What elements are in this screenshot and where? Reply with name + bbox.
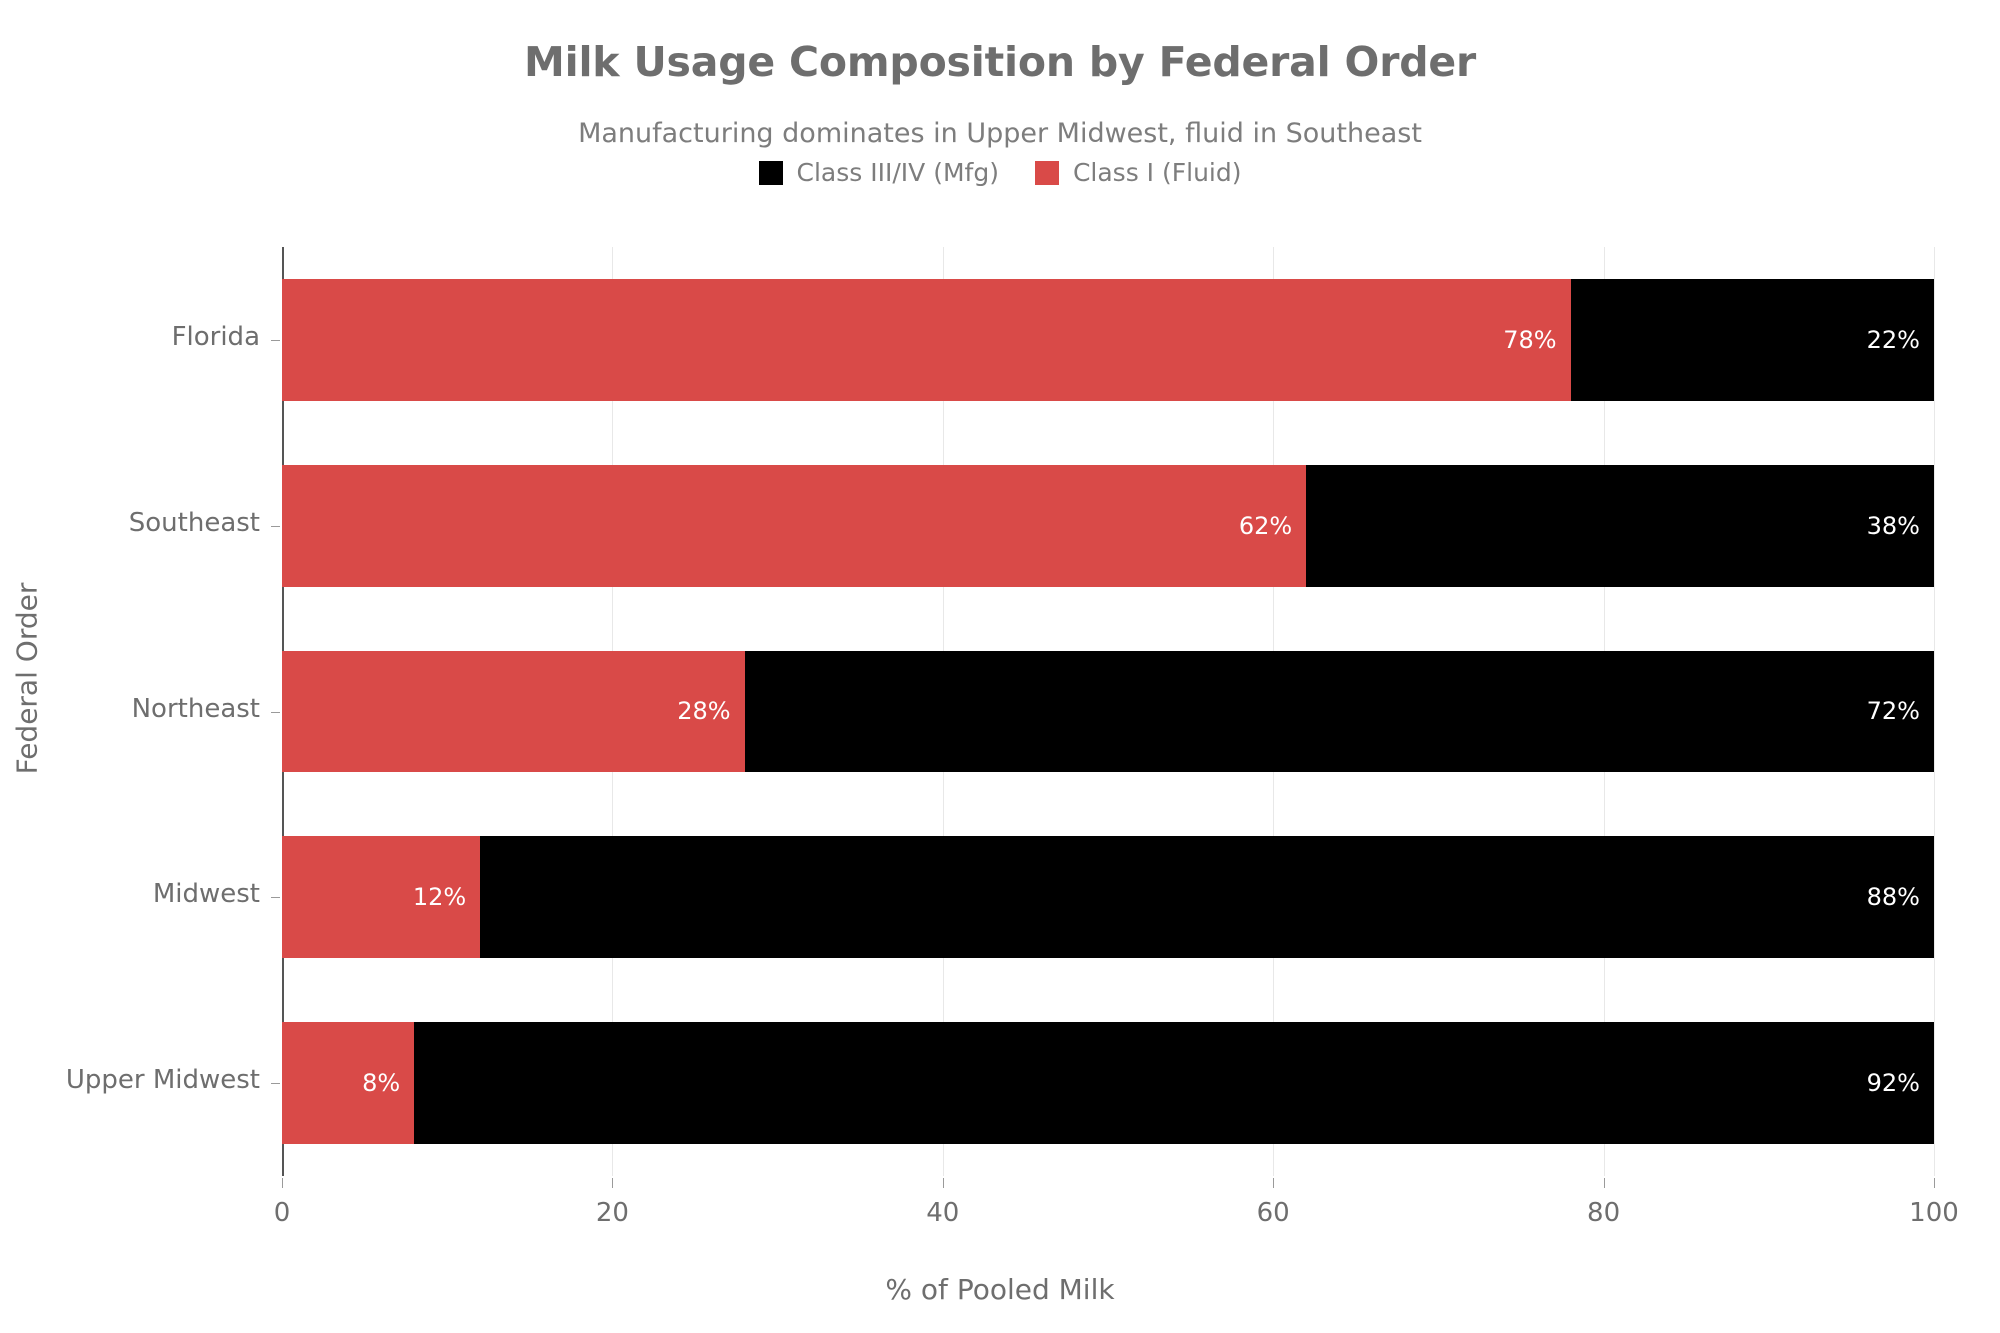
x-tick-mark	[1934, 1178, 1935, 1188]
bar-value-label: 28%	[677, 697, 744, 725]
chart-legend: Class III/IV (Mfg) Class I (Fluid)	[0, 158, 2000, 187]
y-tick-label-northeast: Northeast	[132, 694, 260, 724]
x-tick-mark	[1604, 1178, 1605, 1188]
bar-segment-manufacturing[interactable]: 92%	[414, 1022, 1934, 1144]
legend-item-class-i[interactable]: Class I (Fluid)	[1035, 158, 1242, 187]
legend-swatch-red-icon	[1035, 161, 1059, 185]
x-tick-label-0: 0	[274, 1198, 291, 1228]
y-tick-mark	[271, 712, 280, 713]
bar-value-label: 12%	[413, 883, 480, 911]
bar-segment-fluid[interactable]: 62%	[282, 465, 1306, 587]
bar-value-label: 22%	[1867, 326, 1934, 354]
bar-segment-manufacturing[interactable]: 88%	[480, 836, 1934, 958]
bar-segment-fluid[interactable]: 78%	[282, 279, 1571, 401]
y-tick-mark	[271, 526, 280, 527]
bar-row[interactable]: 12%88%	[282, 836, 1934, 958]
y-axis-title: Federal Order	[11, 489, 44, 869]
bar-segment-fluid[interactable]: 8%	[282, 1022, 414, 1144]
bar-value-label: 8%	[362, 1069, 414, 1097]
bar-value-label: 92%	[1867, 1069, 1934, 1097]
x-tick-label-80: 80	[1587, 1198, 1620, 1228]
x-tick-mark	[282, 1178, 283, 1188]
plot-area: 78%22%62%38%28%72%12%88%8%92%	[282, 247, 1934, 1176]
bar-segment-manufacturing[interactable]: 72%	[745, 651, 1934, 773]
y-tick-label-florida: Florida	[172, 322, 260, 352]
y-tick-label-midwest: Midwest	[153, 879, 260, 909]
x-tick-mark	[612, 1178, 613, 1188]
bar-segment-fluid[interactable]: 12%	[282, 836, 480, 958]
y-tick-label-upper-midwest: Upper Midwest	[66, 1065, 260, 1095]
legend-label-class-iii-iv: Class III/IV (Mfg)	[797, 158, 999, 187]
bar-value-label: 38%	[1867, 512, 1934, 540]
legend-label-class-i: Class I (Fluid)	[1073, 158, 1242, 187]
bar-segment-fluid[interactable]: 28%	[282, 651, 745, 773]
bar-segment-manufacturing[interactable]: 38%	[1306, 465, 1934, 587]
y-tick-mark	[271, 897, 280, 898]
y-tick-mark	[271, 340, 280, 341]
x-tick-label-20: 20	[596, 1198, 629, 1228]
x-tick-mark	[1273, 1178, 1274, 1188]
y-tick-mark	[271, 1083, 280, 1084]
gridline	[1934, 247, 1935, 1176]
x-tick-label-60: 60	[1257, 1198, 1290, 1228]
x-axis-title: % of Pooled Milk	[0, 1273, 2000, 1306]
bar-row[interactable]: 62%38%	[282, 465, 1934, 587]
bar-segment-manufacturing[interactable]: 22%	[1571, 279, 1934, 401]
bar-value-label: 62%	[1239, 512, 1306, 540]
bar-row[interactable]: 28%72%	[282, 651, 1934, 773]
x-tick-label-40: 40	[926, 1198, 959, 1228]
chart-subtitle: Manufacturing dominates in Upper Midwest…	[0, 118, 2000, 149]
legend-item-class-iii-iv[interactable]: Class III/IV (Mfg)	[759, 158, 999, 187]
bar-value-label: 72%	[1867, 697, 1934, 725]
chart-figure: Milk Usage Composition by Federal Order …	[0, 0, 2000, 1333]
legend-swatch-black-icon	[759, 161, 783, 185]
chart-title: Milk Usage Composition by Federal Order	[0, 38, 2000, 86]
x-tick-mark	[943, 1178, 944, 1188]
x-tick-label-100: 100	[1909, 1198, 1959, 1228]
bar-row[interactable]: 8%92%	[282, 1022, 1934, 1144]
y-tick-label-southeast: Southeast	[129, 508, 260, 538]
bar-row[interactable]: 78%22%	[282, 279, 1934, 401]
bar-value-label: 78%	[1503, 326, 1570, 354]
bar-value-label: 88%	[1867, 883, 1934, 911]
